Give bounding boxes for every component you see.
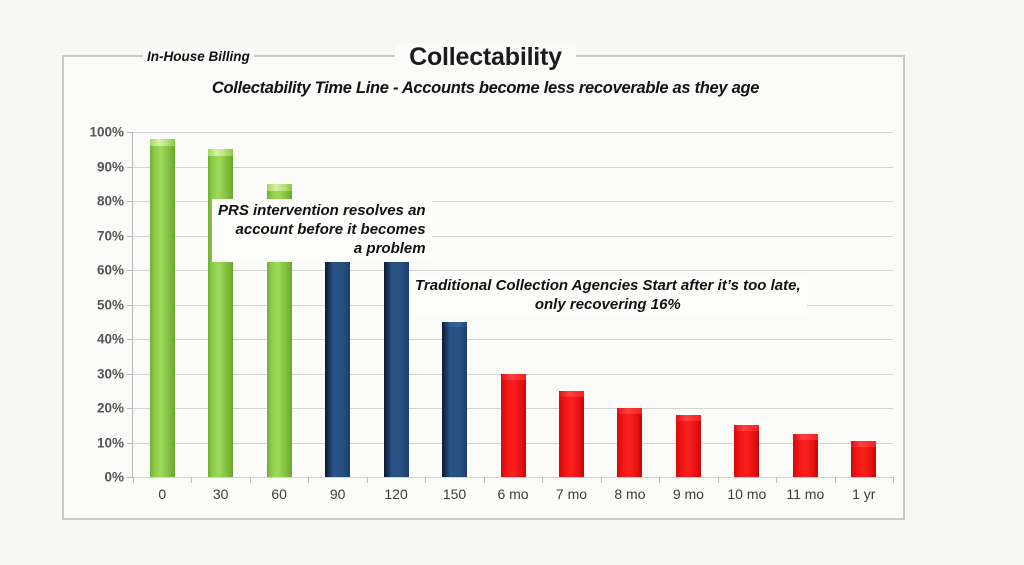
x-axis-tick xyxy=(367,477,368,483)
chart-page: Collectability Collectability Time Line … xyxy=(0,0,1024,565)
bar-cap xyxy=(617,408,642,414)
annotation-prs-intervention: PRS intervention resolves an account bef… xyxy=(212,199,432,262)
x-axis-tick xyxy=(659,477,660,483)
annotation-line: account before it becomes xyxy=(218,220,426,239)
x-axis-label: 0 xyxy=(158,486,166,502)
y-axis-label: 10% xyxy=(97,435,124,450)
x-axis-tick xyxy=(835,477,836,483)
bar-cap xyxy=(208,149,233,156)
bar-cap xyxy=(734,425,759,431)
bar-7-mo xyxy=(559,391,584,477)
bar-0 xyxy=(150,139,175,477)
bar-body xyxy=(442,322,467,477)
bar-9-mo xyxy=(676,415,701,477)
x-axis-label: 8 mo xyxy=(614,486,645,502)
x-axis-label: 120 xyxy=(384,486,407,502)
y-axis-label: 100% xyxy=(89,125,124,140)
y-axis-tick xyxy=(127,443,133,444)
y-axis-tick xyxy=(127,408,133,409)
bar-8-mo xyxy=(617,408,642,477)
x-axis-tick xyxy=(542,477,543,483)
x-axis-label: 10 mo xyxy=(727,486,766,502)
y-axis-tick xyxy=(127,374,133,375)
bar-150 xyxy=(442,322,467,477)
x-axis-tick xyxy=(250,477,251,483)
y-axis-tick xyxy=(127,270,133,271)
y-axis-label: 60% xyxy=(97,263,124,278)
x-axis-label: 9 mo xyxy=(673,486,704,502)
annotation-traditional-collection: Traditional Collection Agencies Start af… xyxy=(409,274,807,317)
bar-10-mo xyxy=(734,425,759,477)
y-axis-label: 0% xyxy=(104,470,124,485)
x-axis-tick xyxy=(308,477,309,483)
y-axis-label: 90% xyxy=(97,159,124,174)
bar-cap xyxy=(267,184,292,191)
bar-cap xyxy=(559,391,584,397)
page-title: Collectability xyxy=(395,43,576,72)
annotation-line: Traditional Collection Agencies Start af… xyxy=(415,276,801,295)
annotation-in-house-billing: In-House Billing xyxy=(143,48,254,65)
bar-11-mo xyxy=(793,434,818,477)
x-axis-label: 11 mo xyxy=(786,486,824,502)
bar-body xyxy=(676,415,701,477)
x-axis-tick xyxy=(776,477,777,483)
y-axis-tick xyxy=(127,305,133,306)
y-axis-label: 80% xyxy=(97,194,124,209)
x-axis-tick xyxy=(133,477,134,483)
chart-subtitle: Collectability Time Line - Accounts beco… xyxy=(64,79,907,98)
bar-1-yr xyxy=(851,441,876,477)
bar-cap xyxy=(793,434,818,440)
bar-body xyxy=(501,374,526,478)
annotation-line: a problem xyxy=(218,239,426,258)
bar-cap xyxy=(501,374,526,380)
gridline xyxy=(133,477,893,478)
x-axis-label: 90 xyxy=(330,486,346,502)
bar-body xyxy=(734,425,759,477)
x-axis-label: 7 mo xyxy=(556,486,587,502)
gridline xyxy=(133,132,893,133)
bar-cap xyxy=(676,415,701,421)
bar-cap xyxy=(851,441,876,447)
bar-120 xyxy=(384,253,409,477)
gridline xyxy=(133,339,893,340)
x-axis-tick xyxy=(718,477,719,483)
bar-body xyxy=(617,408,642,477)
y-axis-tick xyxy=(127,339,133,340)
bar-cap xyxy=(442,322,467,327)
annotation-line: PRS intervention resolves an xyxy=(218,201,426,220)
y-axis-label: 20% xyxy=(97,401,124,416)
bar-body xyxy=(559,391,584,477)
chart-frame: Collectability Collectability Time Line … xyxy=(62,55,905,520)
x-axis-tick xyxy=(191,477,192,483)
bar-body xyxy=(384,253,409,477)
gridline xyxy=(133,167,893,168)
x-axis-label: 150 xyxy=(443,486,466,502)
x-axis-tick xyxy=(893,477,894,483)
y-axis-label: 40% xyxy=(97,332,124,347)
y-axis-tick xyxy=(127,236,133,237)
gridline xyxy=(133,270,893,271)
x-axis-tick xyxy=(601,477,602,483)
bar-6-mo xyxy=(501,374,526,478)
x-axis-label: 30 xyxy=(213,486,229,502)
y-axis-tick xyxy=(127,132,133,133)
x-axis-tick xyxy=(425,477,426,483)
y-axis-tick xyxy=(127,201,133,202)
annotation-line: only recovering 16% xyxy=(415,295,801,314)
y-axis-tick xyxy=(127,167,133,168)
x-axis-label: 60 xyxy=(271,486,287,502)
x-axis-label: 6 mo xyxy=(497,486,528,502)
y-axis-label: 30% xyxy=(97,366,124,381)
bar-cap xyxy=(150,139,175,146)
y-axis-label: 70% xyxy=(97,228,124,243)
annotation-line: In-House Billing xyxy=(147,48,250,65)
x-axis-label: 1 yr xyxy=(852,486,875,502)
y-axis-label: 50% xyxy=(97,297,124,312)
x-axis-tick xyxy=(484,477,485,483)
bar-body xyxy=(793,434,818,477)
bar-body xyxy=(150,139,175,477)
